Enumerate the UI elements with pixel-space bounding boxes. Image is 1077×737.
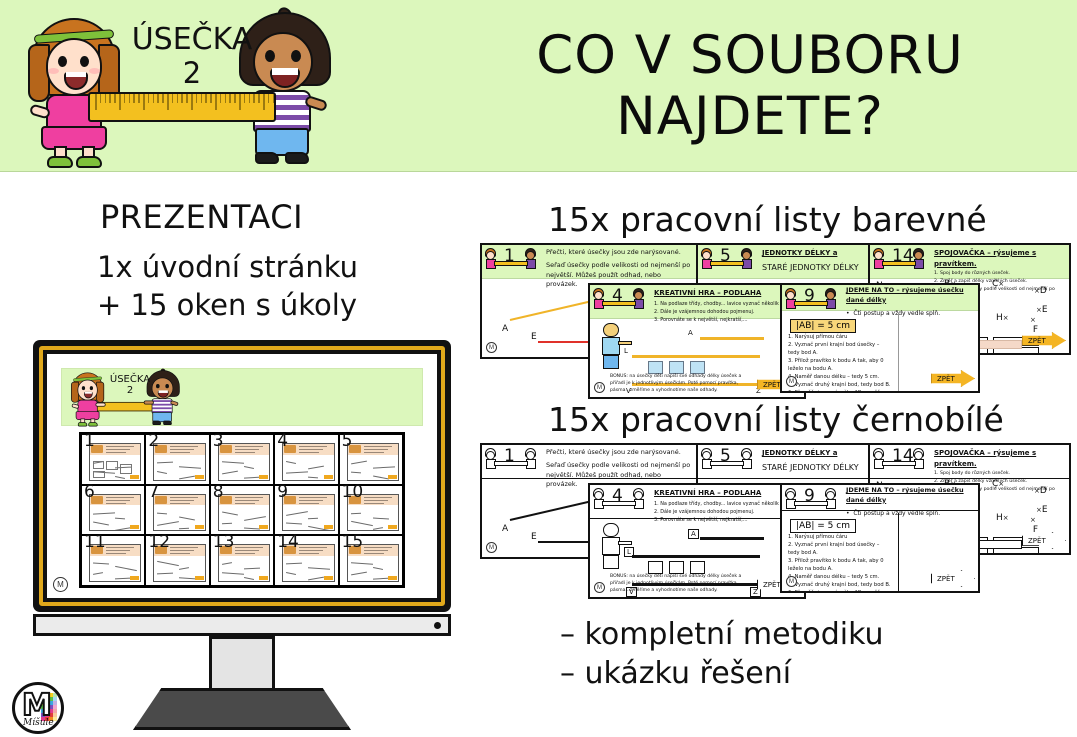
slide-thumbnail-preview	[347, 443, 399, 481]
card-body: |AB| = 5 cm 1. Narýsuj přímou čáru 2. Vy…	[782, 311, 978, 391]
label-A: A	[688, 329, 693, 337]
slide-thumbnail-preview	[153, 494, 205, 532]
slide-thumbnail-cell[interactable]: 12	[145, 535, 209, 586]
point-label-a: A	[502, 524, 508, 534]
slide-watermark-logo: M	[53, 577, 68, 592]
card-logo: M	[486, 342, 497, 353]
usecka-number: 2	[112, 58, 272, 88]
page-title-line2: NAJDETE?	[616, 86, 884, 149]
slide-thumbnail-preview	[282, 494, 334, 532]
header-band: ÚSEČKA 2 CO V SOUBORU NAJDETE?	[0, 0, 1077, 172]
slide-thumbnail-cell[interactable]: 2	[145, 434, 209, 485]
card-logo: M	[486, 542, 497, 553]
card-logo: M	[594, 382, 605, 393]
step-2: 2. Vyznač první krajní bod úsečky – tedy…	[788, 541, 892, 557]
brand-name: Míšule	[23, 718, 54, 728]
usecka-word: ÚSEČKA	[132, 22, 253, 57]
step-5: 5. Vyznač druhý krajní bod, tedy bod B.	[788, 581, 892, 589]
slide-thumbnail-cell[interactable]: 1	[81, 434, 145, 485]
slide-thumbnail-number: 2	[148, 433, 159, 450]
brand-letter: M	[22, 691, 52, 721]
monitor-base	[133, 688, 351, 730]
slide-thumbnail-number: 14	[277, 534, 299, 551]
slide-thumbnail-cell[interactable]: 11	[81, 535, 145, 586]
card-number: 9	[804, 286, 815, 306]
card-header: 1 Přečti, které úsečky jsou zde narýsova…	[482, 245, 696, 279]
card-number: 9	[804, 486, 815, 506]
slide-usecka-badge: ÚSEČKA 2	[102, 375, 158, 397]
card-body: A L V Z BONUS: na úsečky děti napíší své…	[590, 319, 804, 397]
step-6: 6. Přeměř si svou úsečku AB a ověř správ…	[788, 589, 892, 593]
step-1: 1. Narýsuj přímou čáru	[788, 533, 892, 541]
slide-thumbnail-cell[interactable]: 8	[210, 485, 274, 536]
slide-thumbnail-cell[interactable]: 3	[210, 434, 274, 485]
left-line-2: + 15 oken s úkoly	[97, 286, 358, 324]
card-steps: 1. Narýsuj přímou čáru 2. Vyznač první k…	[788, 333, 892, 393]
card-header: 14 SPOJOVAČKA – rýsujeme s pravítkem. 1.…	[870, 445, 1069, 479]
slide-thumbnail-number: 8	[213, 484, 224, 501]
card-body-text-1: Přečti, které úsečky jsou zde narýsované…	[546, 248, 693, 258]
label-L: L	[624, 547, 634, 557]
slide-thumbnail-number: 6	[84, 484, 95, 501]
slide-thumbnail-cell[interactable]: 6	[81, 485, 145, 536]
slide-thumbnail-number: 10	[342, 484, 364, 501]
prezentaci-heading: PREZENTACI	[100, 198, 303, 236]
card-title-main: JDEME NA TO – rýsujeme úsečku dané délky	[846, 486, 975, 506]
monitor-chin	[33, 614, 451, 636]
slide-thumbnail-cell[interactable]: 7	[145, 485, 209, 536]
card-number: 14	[892, 446, 914, 466]
worksheet-card-color-9[interactable]: 9 JDEME NA TO – rýsujeme úsečku dané dél…	[780, 283, 980, 393]
slide-thumbnail-number: 5	[342, 433, 353, 450]
slide-thumbnail-number: 11	[84, 534, 106, 551]
step-4: 4. Naměř danou délku – tedy 5 cm.	[788, 373, 892, 381]
card-header: 4 KREATIVNÍ HRA – PODLAHA 1. Na podlaze …	[590, 485, 804, 519]
slide-thumbnail-cell[interactable]: 10	[339, 485, 403, 536]
card-number: 14	[892, 246, 914, 266]
card-body: A L V Z BONUS: na úsečky děti napíší své…	[590, 519, 804, 597]
point-label-e: E	[531, 332, 537, 342]
card-title-main: KREATIVNÍ HRA – PODLAHA	[654, 288, 801, 299]
slide-usecka-number: 2	[102, 386, 158, 397]
card-steps: 1. Narýsuj přímou čáru 2. Vyznač první k…	[788, 533, 892, 593]
worksheet-card-bw-9[interactable]: 9 JDEME NA TO – rýsujeme úsečku dané dél…	[780, 483, 980, 593]
brand-watermark: M Míšule	[12, 682, 64, 734]
pointing-child-illustration	[600, 323, 622, 369]
card-number: 4	[612, 486, 623, 506]
heading-color-worksheets: 15x pracovní listy barevné	[548, 200, 987, 239]
step-3: 3. Přilož pravítko k bodu A tak, aby 0 l…	[788, 357, 892, 373]
worksheet-card-color-4[interactable]: 4 KREATIVNÍ HRA – PODLAHA 1. Na podlaze …	[588, 283, 806, 399]
highlight-formula-wrap: |AB| = 5 cm	[790, 515, 856, 533]
card-bonus-note: BONUS: na úsečky děti napíší své odhady …	[610, 374, 754, 395]
slide-thumbnail-number: 3	[213, 433, 224, 450]
slide-thumbnail-cell[interactable]: 15	[339, 535, 403, 586]
card-body-text-1: Přečti, které úsečky jsou zde narýsované…	[546, 448, 693, 458]
step-6: 6. Přeměř si svou úsečku AB a ověř správ…	[788, 389, 892, 393]
card-step-1: 1. Na podlaze třídy, chodby... lavice vy…	[654, 500, 801, 508]
label-L: L	[624, 347, 628, 355]
slide-thumbnail-grid: 123456789101112131415	[79, 432, 405, 588]
slide-thumbnail-cell[interactable]: 14	[274, 535, 338, 586]
usecka-badge: ÚSEČKA 2	[112, 24, 272, 88]
bullet-metodika: – kompletní metodiku	[560, 615, 884, 654]
card-title-main: SPOJOVAČKA – rýsujeme s pravítkem.	[934, 248, 1066, 269]
card-number: 1	[504, 246, 515, 266]
card-header: 9 JDEME NA TO – rýsujeme úsečku dané dél…	[782, 285, 978, 311]
card-number: 5	[720, 446, 731, 466]
card-step-2: 2. Dále je vzájemnou dohodou pojmenuj.	[654, 308, 801, 316]
highlight-formula-wrap: |AB| = 5 cm	[790, 315, 856, 333]
back-button[interactable]: ZPĚT	[931, 570, 975, 587]
step-4: 4. Naměř danou délku – tedy 5 cm.	[788, 573, 892, 581]
back-button[interactable]: ZPĚT	[931, 370, 975, 387]
card-header: 1 Přečti, které úsečky jsou zde narýsova…	[482, 445, 696, 479]
card-logo: M	[594, 582, 605, 593]
slide-thumbnail-preview	[89, 443, 141, 481]
slide-thumbnail-number: 13	[213, 534, 235, 551]
monitor-screen: ÚSEČKA 2 123456789101112131415 M	[47, 354, 437, 598]
pointing-child-illustration	[600, 523, 622, 569]
card-title-main: SPOJOVAČKA – rýsujeme s pravítkem.	[934, 448, 1066, 469]
slide-thumbnail-number: 7	[148, 484, 159, 501]
card-header: 9 JDEME NA TO – rýsujeme úsečku dané dél…	[782, 485, 978, 511]
slide-thumbnail-number: 4	[277, 433, 288, 450]
slide-kids-illustration	[66, 371, 105, 391]
bottom-bullet-list: – kompletní metodiku – ukázku řešení	[560, 615, 884, 693]
slide-thumbnail-number: 1	[84, 433, 95, 450]
brand-circle: M Míšule	[12, 682, 64, 734]
slide-usecka-word: ÚSEČKA	[110, 374, 150, 385]
slide-thumbnail-number: 9	[277, 484, 288, 501]
slide-thumbnail-preview	[89, 494, 141, 532]
slide-thumbnail-preview	[218, 494, 270, 532]
card-number: 1	[504, 446, 515, 466]
bullet-reseni: – ukázku řešení	[560, 654, 884, 693]
slide-thumbnail-cell[interactable]: 9	[274, 485, 338, 536]
monitor-bezel: ÚSEČKA 2 123456789101112131415 M	[33, 340, 451, 612]
step-5: 5. Vyznač druhý krajní bod, tedy bod B.	[788, 381, 892, 389]
step-2: 2. Vyznač první krajní bod úsečky – tedy…	[788, 341, 892, 357]
heading-bw-worksheets: 15x pracovní listy černobílé	[548, 400, 1004, 439]
card-header: 4 KREATIVNÍ HRA – PODLAHA 1. Na podlaze …	[590, 285, 804, 319]
card-body: |AB| = 5 cm 1. Narýsuj přímou čáru 2. Vy…	[782, 511, 978, 591]
monitor-mockup: ÚSEČKA 2 123456789101112131415 M	[33, 340, 451, 712]
monitor-gold-frame: ÚSEČKA 2 123456789101112131415 M	[39, 346, 445, 606]
step-3: 3. Přilož pravítko k bodu A tak, aby 0 l…	[788, 557, 892, 573]
card-number: 4	[612, 286, 623, 306]
slide-thumbnail-cell[interactable]: 13	[210, 535, 274, 586]
label-A: A	[688, 529, 699, 539]
highlight-formula: |AB| = 5 cm	[790, 519, 856, 533]
card-number: 5	[720, 246, 731, 266]
card-step-1: 1. Spoj body do různých úseček.	[934, 470, 1066, 478]
card-title-main: JDEME NA TO – rýsujeme úsečku dané délky	[846, 286, 975, 306]
card-logo: M	[786, 376, 797, 387]
card-step-1: 1. Na podlaze třídy, chodby... lavice vy…	[654, 300, 801, 308]
card-step-1: 1. Spoj body do různých úseček.	[934, 270, 1066, 278]
slide-thumbnail-preview	[218, 443, 270, 481]
worksheet-card-bw-4[interactable]: 4 KREATIVNÍ HRA – PODLAHA 1. Na podlaze …	[588, 483, 806, 599]
slide-thumbnail-preview	[153, 443, 205, 481]
monitor-neck	[209, 636, 275, 694]
card-header: 14 SPOJOVAČKA – rýsujeme s pravítkem. 1.…	[870, 245, 1069, 279]
slide-header-band: ÚSEČKA 2	[61, 368, 423, 426]
card-logo: M	[786, 576, 797, 587]
point-label-e: E	[531, 532, 537, 542]
card-step-2: 2. Dále je vzájemnou dohodou pojmenuj.	[654, 508, 801, 516]
page-title-line1: CO V SOUBORU	[536, 25, 964, 88]
slide-thumbnail-cell[interactable]: 4	[274, 434, 338, 485]
highlight-formula: |AB| = 5 cm	[790, 319, 856, 333]
slide-thumbnail-cell[interactable]: 5	[339, 434, 403, 485]
page-title: CO V SOUBORU NAJDETE?	[430, 12, 1070, 162]
slide-thumbnail-number: 15	[342, 534, 364, 551]
ruler-illustration	[88, 92, 276, 122]
slide-thumbnail-preview	[282, 443, 334, 481]
monitor-power-led	[434, 622, 441, 629]
left-line-1: 1x úvodní stránku	[97, 248, 358, 286]
step-1: 1. Narýsuj přímou čáru	[788, 333, 892, 341]
left-detail-list: 1x úvodní stránku + 15 oken s úkoly	[97, 248, 358, 325]
point-label-a: A	[502, 324, 508, 334]
card-title-main: KREATIVNÍ HRA – PODLAHA	[654, 488, 801, 499]
slide-thumbnail-number: 12	[148, 534, 170, 551]
card-bonus-note: BONUS: na úsečky děti napíší své odhady …	[610, 574, 754, 595]
